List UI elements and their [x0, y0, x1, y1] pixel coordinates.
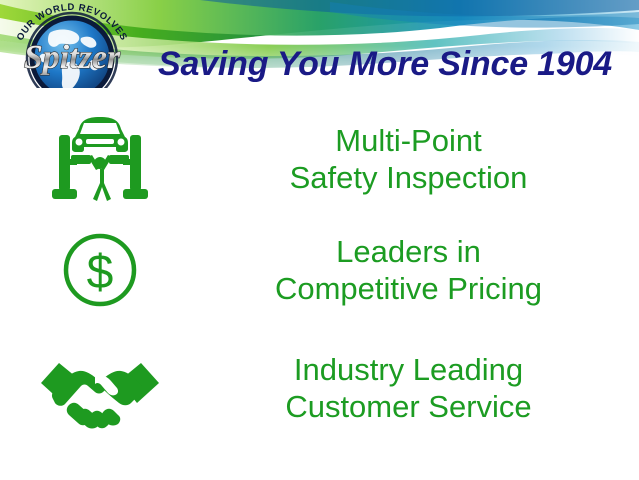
car-lift-icon	[46, 113, 154, 205]
feature-list: Multi-Point Safety Inspection $ Leaders …	[0, 106, 639, 446]
feature-item-safety-inspection: Multi-Point Safety Inspection	[0, 106, 639, 212]
feature-line-2: Customer Service	[200, 388, 617, 425]
feature-icon-wrapper	[0, 113, 200, 205]
page-title: Saving You More Since 1904	[158, 44, 628, 84]
feature-icon-wrapper: $	[0, 230, 200, 310]
feature-line-1: Multi-Point	[200, 122, 617, 159]
feature-line-1: Industry Leading	[200, 351, 617, 388]
feature-item-competitive-pricing: $ Leaders in Competitive Pricing	[0, 218, 639, 322]
svg-text:$: $	[87, 246, 114, 299]
feature-text-competitive-pricing: Leaders in Competitive Pricing	[200, 233, 639, 307]
feature-icon-wrapper	[0, 347, 200, 429]
logo-wordmark: Spitzer	[24, 39, 121, 76]
handshake-icon	[39, 347, 161, 429]
feature-text-safety-inspection: Multi-Point Safety Inspection	[200, 122, 639, 196]
spitzer-logo: OUR WORLD REVOLVES AROUND YOU Spitzer	[4, 2, 140, 88]
feature-line-1: Leaders in	[200, 233, 617, 270]
header-band: OUR WORLD REVOLVES AROUND YOU Spitzer Sa…	[0, 0, 639, 88]
feature-text-customer-service: Industry Leading Customer Service	[200, 351, 639, 425]
svg-text:Spitzer: Spitzer	[24, 39, 121, 76]
feature-line-2: Competitive Pricing	[200, 270, 617, 307]
spitzer-logo-graphic: OUR WORLD REVOLVES AROUND YOU Spitzer	[4, 2, 140, 88]
feature-line-2: Safety Inspection	[200, 159, 617, 196]
dollar-circle-icon: $	[60, 230, 140, 310]
feature-item-customer-service: Industry Leading Customer Service	[0, 334, 639, 442]
promo-slide: OUR WORLD REVOLVES AROUND YOU Spitzer Sa…	[0, 0, 639, 480]
